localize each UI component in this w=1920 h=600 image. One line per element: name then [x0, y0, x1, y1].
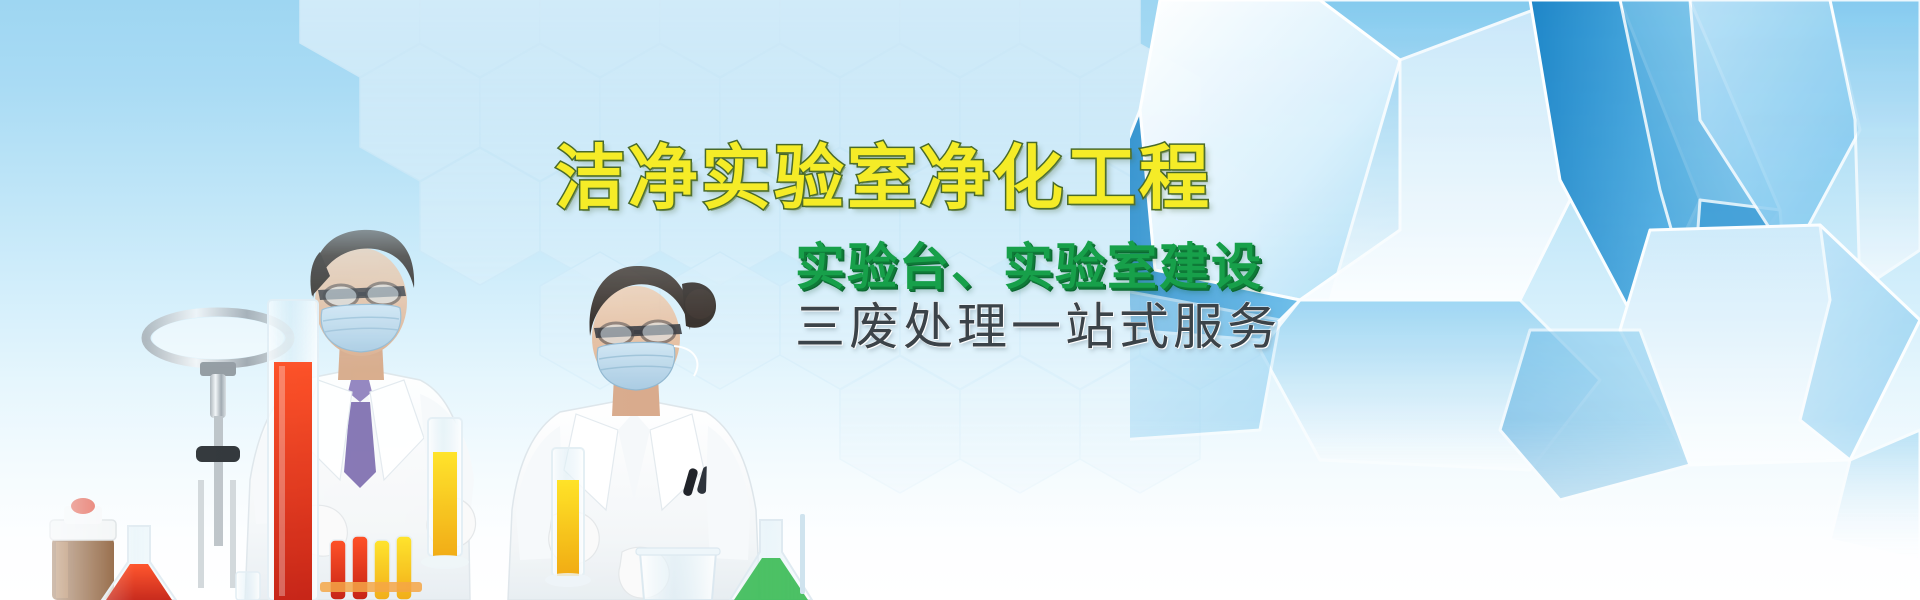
promotional-banner: 洁净实验室净化工程 实验台、实验室建设 三废处理一站式服务: [0, 0, 1920, 600]
lab-scientists-photo: [0, 180, 960, 600]
